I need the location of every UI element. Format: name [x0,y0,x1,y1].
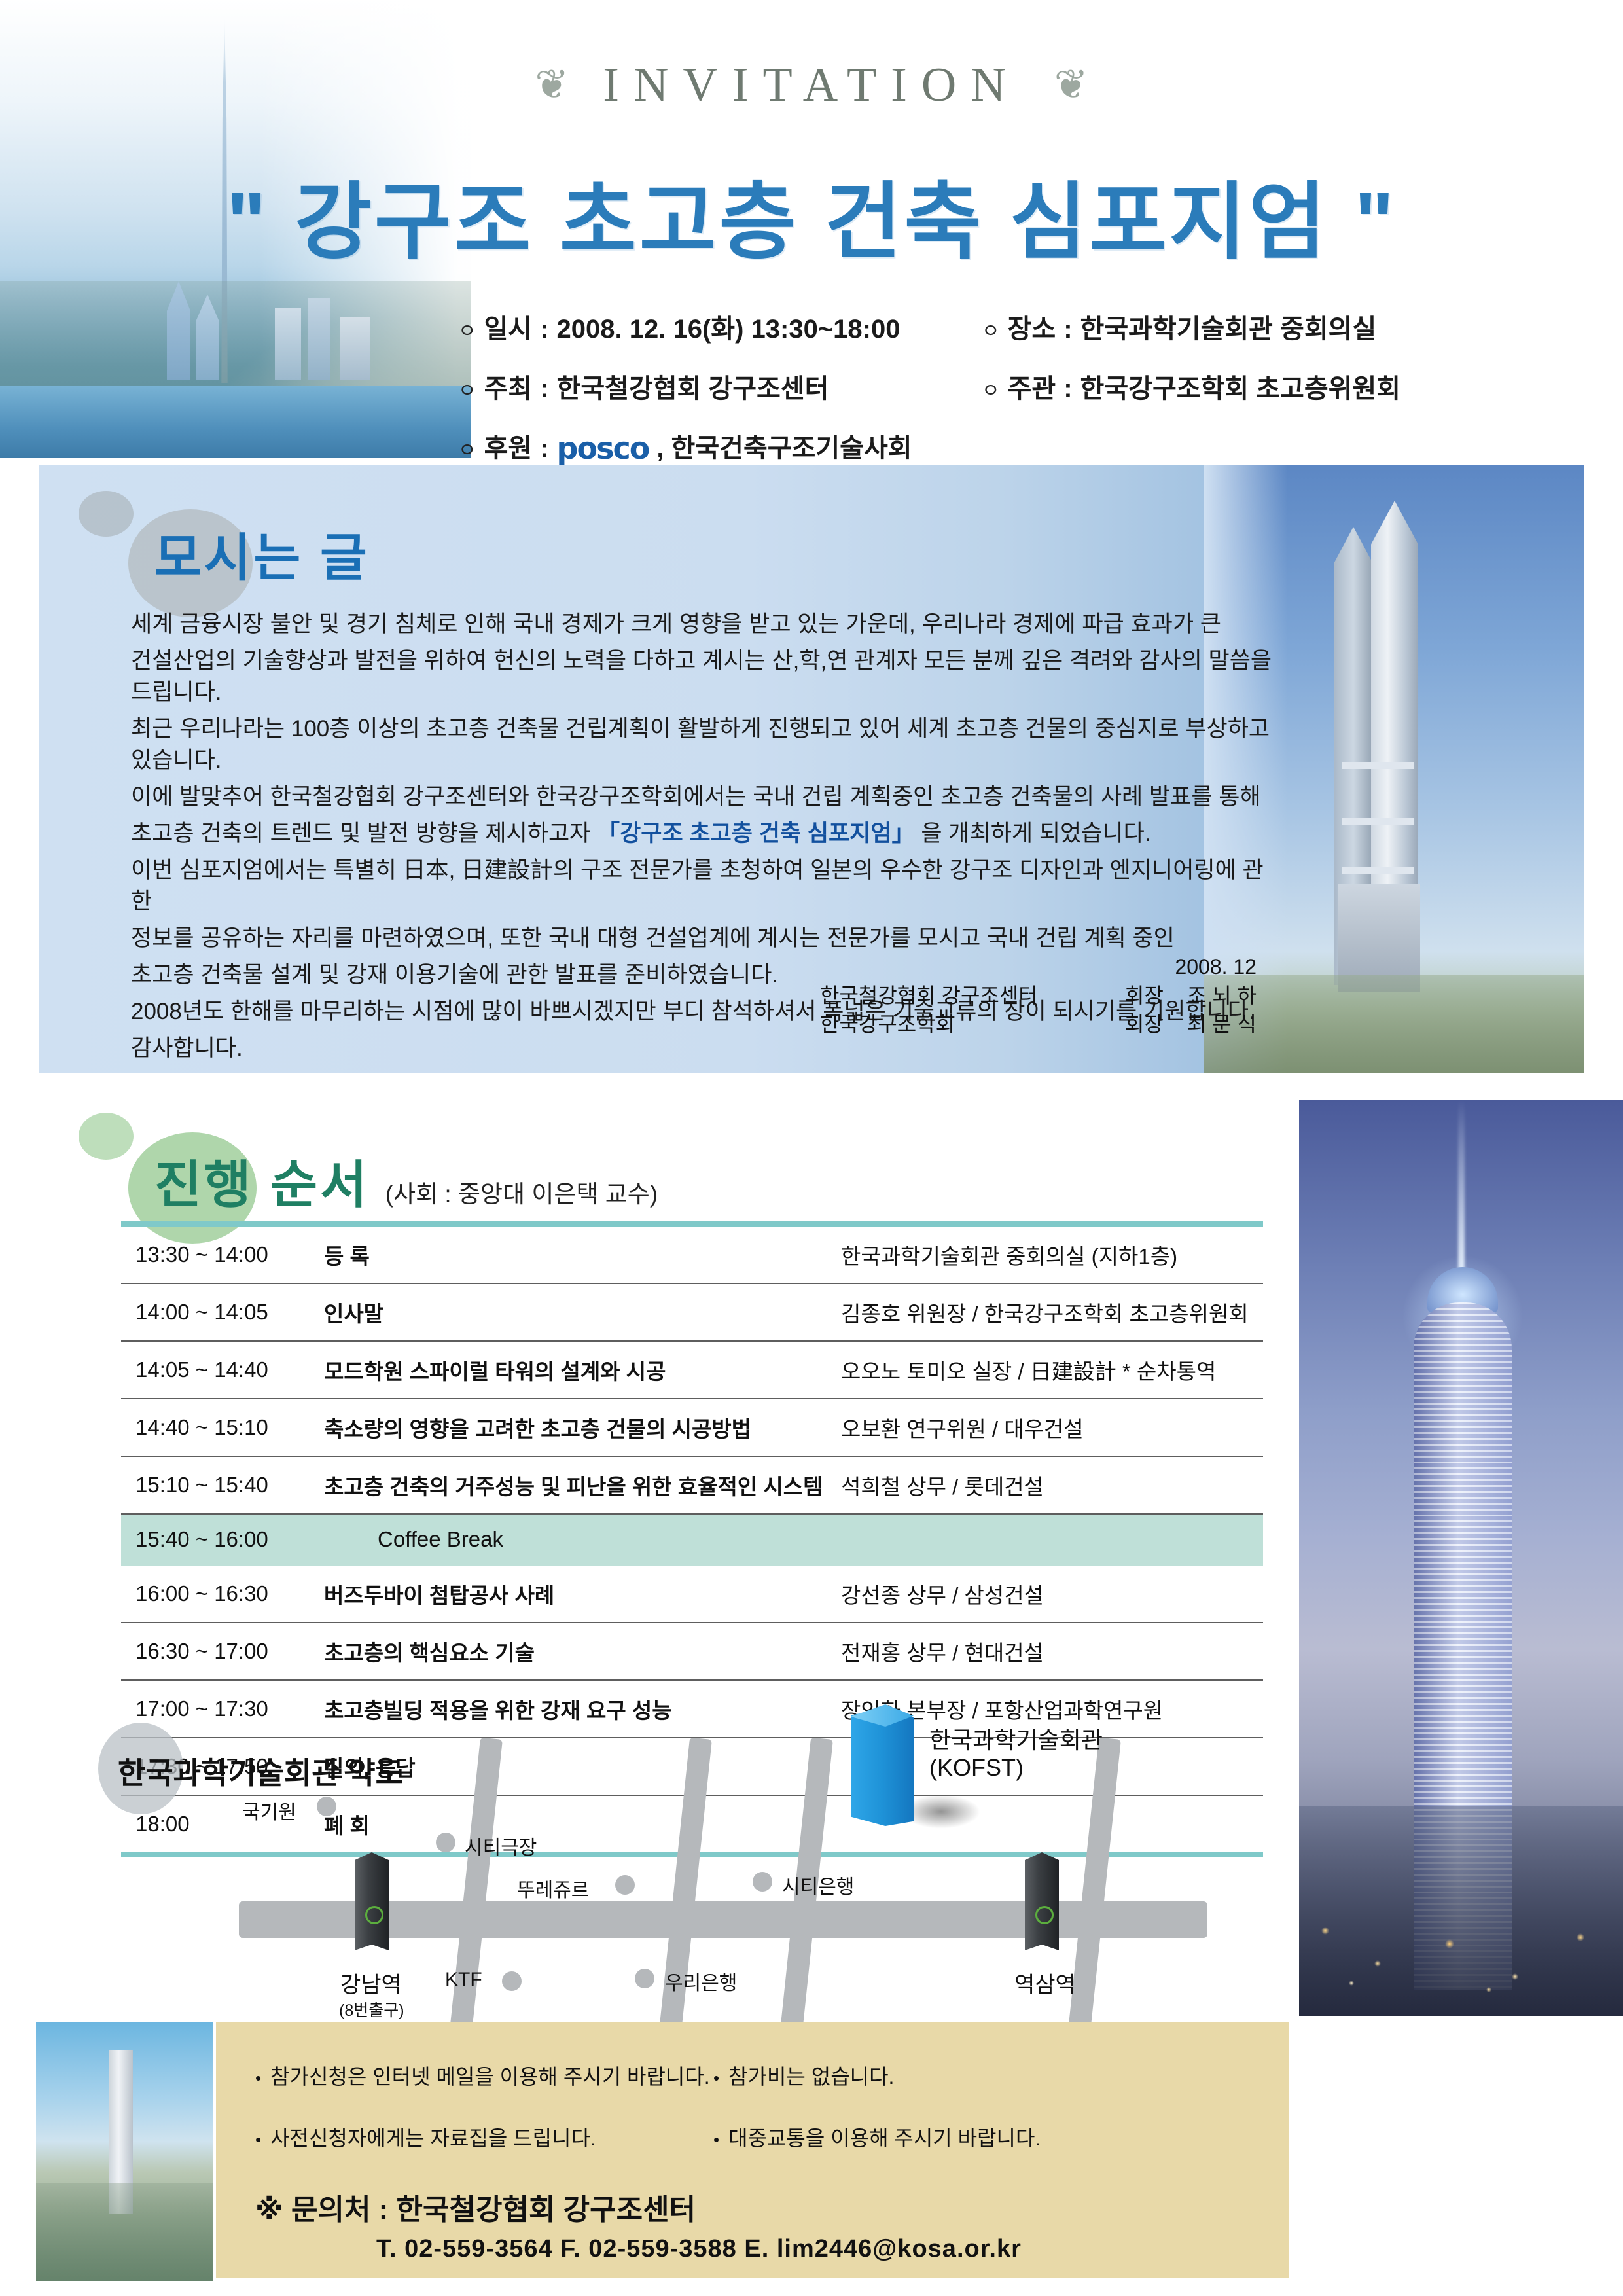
meta-date-label: 일시 [484,308,533,346]
footer-notes-left: • 참가신청은 인터넷 메일을 이용해 주시기 바랍니다. • 사전신청자에게는… [255,2060,713,2183]
circle-bullet-icon: ㅇ [982,315,1000,344]
map-label-gangnam-exit: (8번출구) [339,1998,404,2021]
map-label-woori-bank: 우리은행 [665,1967,737,1996]
footer-contact-label: ※ 문의처 : 한국철강협회 강구조센터 [255,2186,696,2228]
meta-sponsor-label: 후원 [484,427,533,465]
meta-item-host: ㅇ 주최 : 한국철강협회 강구조센터 [458,367,982,405]
hero-building-5 [340,317,370,380]
schedule-topic: 모드학원 스파이럴 타워의 설계와 시공 [324,1341,841,1399]
footer-note-item: • 사전신청자에게는 자료집을 드립니다. [255,2122,713,2152]
invitation-banner: ❦ INVITATION ❦ [0,46,1623,124]
greeting-paragraph: 건설산업의 기술향상과 발전을 위하여 헌신의 노력을 다하고 계시는 산,학,… [131,645,1276,708]
meta-item-date: ㅇ 일시 : 2008. 12. 16(화) 13:30~18:00 [458,308,982,346]
schedule-topic: 축소량의 영향을 고려한 초고층 건물의 시공방법 [324,1399,841,1456]
schedule-row: 14:40 ~ 15:10축소량의 영향을 고려한 초고층 건물의 시공방법오보… [121,1399,1263,1456]
schedule-topic: 등 록 [324,1224,841,1283]
meta-item-sponsor: ㅇ 후원 : posco , 한국건축구조기술사회 [458,427,1178,465]
footer-note-item: • 참가비는 없습니다. [713,2060,1171,2090]
program-heading-wrap: 진행 순서 (사회 : 중앙대 이은택 교수) [154,1144,658,1217]
circle-bullet-icon: ㅇ [458,315,476,344]
footer-tower-image [36,2022,213,2281]
footer-contact-line: T. 02-559-3564 F. 02-559-3588 E. lim2446… [376,2235,1022,2263]
meta-row-sponsor: ㅇ 후원 : posco , 한국건축구조기술사회 [458,427,1571,465]
circle-bullet-icon: ㅇ [458,374,476,403]
meta-colon: : [540,374,548,404]
map-label-ttore-jour: 뚜레쥬르 [517,1874,589,1903]
poi-dot-citibank [753,1872,772,1892]
footer-note-text: 참가비는 없습니다. [728,2060,894,2090]
kofst-building-icon [851,1708,914,1826]
greeting-signature-block: 2008. 12 한국철강협회 강구조센터 회장 조 뇌 하 한국강구조학회 회… [720,952,1257,1039]
footer-note-text: 참가신청은 인터넷 메일을 이용해 주시기 바랍니다. [270,2060,710,2090]
highlight-suffix: 을 개최하게 되었습니다. [915,821,1151,846]
poi-dot-ktf [502,1971,522,1991]
greeting-tower-skybridge-2 [1342,818,1414,825]
page-title: " 강구조 초고층 건축 심포지엄 " [0,154,1623,275]
schedule-time: 16:30 ~ 17:00 [121,1623,324,1680]
hero-building-3 [275,308,301,380]
symposium-title-highlight: 「강구조 초고층 건축 심포지엄」 [597,821,915,846]
meta-organizer-label: 주관 [1008,367,1056,405]
schedule-topic: 초고층 건축의 거주성능 및 피난을 위한 효율적인 시스템 [324,1456,841,1514]
signature-title: 회장 [1125,1010,1164,1039]
schedule-speaker: 강선종 상무 / 삼성건설 [841,1565,1263,1623]
map-label-yeoksam-station: 역삼역 [1014,1967,1076,1999]
greeting-paragraph: 최근 우리나라는 100층 이상의 초고층 건축물 건립계획이 활발하게 진행되… [131,713,1276,776]
meta-sponsor-value: , 한국건축구조기술사회 [656,427,912,465]
footer-note-item: • 참가신청은 인터넷 메일을 이용해 주시기 바랍니다. [255,2060,713,2090]
schedule-time: 14:40 ~ 15:10 [121,1399,324,1456]
footer-note-text: 사전신청자에게는 자료집을 드립니다. [270,2122,596,2152]
footer-note-text: 대중교통을 이용해 주시기 바랍니다. [728,2122,1041,2152]
schedule-speaker: 김종호 위원장 / 한국강구조학회 초고층위원회 [841,1283,1263,1341]
footer-notes: • 참가신청은 인터넷 메일을 이용해 주시기 바랍니다. • 사전신청자에게는… [255,2060,1237,2183]
poster-page: ❦ INVITATION ❦ " 강구조 초고층 건축 심포지엄 " ㅇ 일시 … [0,0,1623,2296]
bullet-dot-icon: • [713,2130,719,2150]
meta-colon: : [1063,374,1072,404]
meta-colon: : [1063,315,1072,344]
flourish-left-icon: ❦ [535,65,569,105]
greeting-paragraph: 이에 발맞추어 한국철강협회 강구조센터와 한국강구조학회에서는 국내 건립 계… [131,781,1276,813]
greeting-paragraph-highlight: 초고층 건축의 트렌드 및 발전 방향을 제시하고자 「강구조 초고층 건축 심… [131,818,1276,850]
signature-row: 한국철강협회 강구조센터 회장 조 뇌 하 [720,981,1257,1010]
meta-organizer-value: 한국강구조학회 초고층위원회 [1080,367,1401,405]
schedule-topic: 초고층의 핵심요소 기술 [324,1623,841,1680]
map-label-gukgiwon: 국기원 [242,1796,296,1825]
program-mc-label: (사회 : 중앙대 이은택 교수) [385,1174,658,1210]
schedule-row: 16:00 ~ 16:30버즈두바이 첨탑공사 사례강선종 상무 / 삼성건설 [121,1565,1263,1623]
hero-building-4 [308,298,330,380]
signature-date: 2008. 12 [720,952,1257,981]
schedule-time: 15:10 ~ 15:40 [121,1456,324,1514]
meta-venue-label: 장소 [1008,308,1056,346]
meta-item-venue: ㅇ 장소 : 한국과학기술회관 중회의실 [982,308,1531,346]
night-tower-image [1299,1100,1623,2016]
schedule-topic: 인사말 [324,1283,841,1341]
map-title: 한국과학기술회관 약도 [118,1749,403,1793]
poi-dot-city-theater [436,1833,455,1852]
kofst-building-shadow [902,1795,980,1829]
meta-venue-value: 한국과학기술회관 중회의실 [1080,308,1377,346]
map-label-venue-name: 한국과학기술회관 [929,1721,1103,1755]
greeting-heading: 모시는 글 [154,517,370,590]
bullet-dot-icon: • [255,2130,261,2150]
schedule-time: 14:00 ~ 14:05 [121,1283,324,1341]
schedule-row: 15:10 ~ 15:40초고층 건축의 거주성능 및 피난을 위한 효율적인 … [121,1456,1263,1514]
schedule-row: 14:00 ~ 14:05인사말김종호 위원장 / 한국강구조학회 초고층위원회 [121,1283,1263,1341]
schedule-time: 14:05 ~ 14:40 [121,1341,324,1399]
schedule-break-row: 15:40 ~ 16:00Coffee Break [121,1514,1263,1565]
poi-dot-gukgiwon [317,1797,336,1816]
bullet-dot-icon: • [255,2068,261,2089]
map-label-venue-code: (KOFST) [929,1754,1024,1782]
subway-marker-yeoksam-icon [1025,1852,1059,1950]
signature-title: 회장 [1125,981,1164,1010]
schedule-row: 13:30 ~ 14:00등 록한국과학기술회관 중회의실 (지하1층) [121,1224,1263,1283]
highlight-prefix: 초고층 건축의 트렌드 및 발전 방향을 제시하고자 [131,821,597,846]
schedule-speaker: 오오노 토미오 실장 / 日建設計 * 순차통역 [841,1341,1263,1399]
map-label-ktf: KTF [445,1969,482,1991]
night-tower-city-lights [1299,1905,1623,2003]
map-label-gangnam-station: 강남역 [340,1967,402,1999]
program-heading: 진행 순서 [154,1144,370,1217]
decor-blob-gray-small [79,491,134,537]
footer-info-box: • 참가신청은 인터넷 메일을 이용해 주시기 바랍니다. • 사전신청자에게는… [216,2022,1289,2278]
subway-marker-gangnam-icon [355,1852,389,1950]
poi-dot-ttore-jour [615,1875,635,1895]
meta-row-date: ㅇ 일시 : 2008. 12. 16(화) 13:30~18:00 ㅇ 장소 … [458,308,1571,346]
road-vertical-1 [449,1737,503,2039]
meta-host-label: 주최 [484,367,533,405]
footer-note-item: • 대중교통을 이용해 주시기 바랍니다. [713,2122,1171,2152]
schedule-speaker: 오보환 연구위원 / 대우건설 [841,1399,1263,1456]
schedule-speaker: 한국과학기술회관 중회의실 (지하1층) [841,1224,1263,1283]
schedule-row: 16:30 ~ 17:00초고층의 핵심요소 기술전재홍 상무 / 현대건설 [121,1623,1263,1680]
circle-bullet-icon: ㅇ [458,434,476,463]
circle-bullet-icon: ㅇ [982,374,1000,403]
schedule-speaker: 석희철 상무 / 롯데건설 [841,1456,1263,1514]
meta-colon: : [540,434,548,463]
signature-row: 한국강구조학회 회장 최 문 식 [720,1010,1257,1039]
schedule-topic: Coffee Break [324,1514,1263,1565]
bullet-dot-icon: • [713,2068,719,2089]
schedule-time: 16:00 ~ 16:30 [121,1565,324,1623]
schedule-time: 15:40 ~ 16:00 [121,1514,324,1565]
signature-name: 최 문 식 [1187,1010,1257,1039]
meta-colon: : [540,315,548,344]
meta-item-organizer: ㅇ 주관 : 한국강구조학회 초고층위원회 [982,367,1531,405]
footer-city-shape [36,2183,213,2281]
event-meta: ㅇ 일시 : 2008. 12. 16(화) 13:30~18:00 ㅇ 장소 … [458,308,1571,486]
signature-org: 한국강구조학회 [820,1010,1101,1039]
map-label-city-theater: 시티극장 [465,1831,537,1860]
schedule-topic: 버즈두바이 첨탑공사 사례 [324,1565,841,1623]
signature-name: 조 뇌 하 [1187,981,1257,1010]
meta-host-value: 한국철강협회 강구조센터 [557,367,829,405]
poi-dot-woori-bank [635,1969,654,1988]
signature-org: 한국철강협회 강구조센터 [820,981,1101,1010]
schedule-row: 14:05 ~ 14:40모드학원 스파이럴 타워의 설계와 시공오오노 토미오… [121,1341,1263,1399]
greeting-tower-skybridge-1 [1342,762,1414,769]
posco-logo: posco [557,431,649,466]
greeting-paragraph: 이번 심포지엄에서는 특별히 日本, 日建設計의 구조 전문가를 초청하여 일본… [131,855,1276,918]
flourish-right-icon: ❦ [1054,65,1088,105]
schedule-time: 13:30 ~ 14:00 [121,1224,324,1283]
decor-blob-green-small [79,1113,134,1160]
greeting-paragraph: 세계 금융시장 불안 및 경기 침체로 인해 국내 경제가 크게 영향을 받고 … [131,609,1276,640]
footer-notes-right: • 참가비는 없습니다. • 대중교통을 이용해 주시기 바랍니다. [713,2060,1171,2183]
greeting-paragraph: 정보를 공유하는 자리를 마련하였으며, 또한 국내 대형 건설업계에 계시는 … [131,923,1276,954]
schedule-speaker: 전재홍 상무 / 현대건설 [841,1623,1263,1680]
hero-river [0,386,471,458]
greeting-tower-skybridge-3 [1342,867,1414,874]
meta-date-value: 2008. 12. 16(화) 13:30~18:00 [557,308,901,346]
invitation-word: INVITATION [603,58,1020,113]
map-label-citibank: 시티은행 [782,1871,854,1899]
meta-row-host: ㅇ 주최 : 한국철강협회 강구조센터 ㅇ 주관 : 한국강구조학회 초고층위원… [458,367,1571,405]
